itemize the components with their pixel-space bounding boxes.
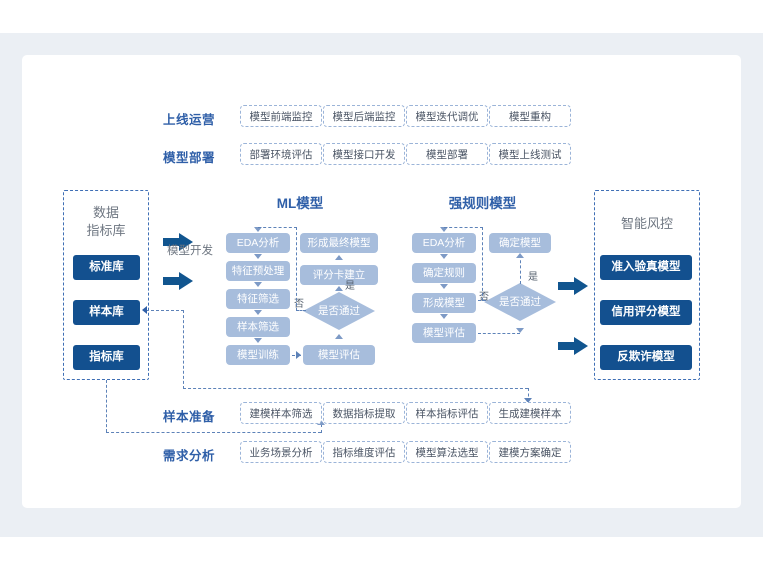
- ml-connector-no-v: [296, 227, 297, 311]
- ml-step-final-model[interactable]: 形成最终模型: [300, 233, 378, 253]
- rule-step-form-model[interactable]: 形成模型: [412, 293, 476, 313]
- rule-model-title: 强规则模型: [415, 192, 550, 212]
- flow-arrow-down-icon-ml-3: [254, 310, 262, 315]
- flow-arrow-up-icon-ml-1: [335, 255, 343, 260]
- rule-yes-label: 是: [528, 268, 538, 283]
- left-panel-title: 数据 指标库: [63, 204, 149, 239]
- flow-arrow-up-icon-rule-2: [516, 328, 524, 333]
- flow-arrow-down-icon-ml-2: [254, 282, 262, 287]
- diagram-canvas: 上线运营 模型前端监控 模型后端监控 模型迭代调优 模型重构 模型部署 部署环境…: [0, 0, 763, 576]
- rule-connector-yes-v: [520, 255, 521, 284]
- flow-arrow-down-icon-rule-1: [440, 254, 448, 259]
- chip-sample-prep-1[interactable]: 数据指标提取: [323, 402, 405, 424]
- chip-online-ops-2[interactable]: 模型迭代调优: [406, 105, 488, 127]
- chip-model-deploy-3[interactable]: 模型上线测试: [489, 143, 571, 165]
- chip-online-ops-0[interactable]: 模型前端监控: [240, 105, 322, 127]
- flow-arrow-down-icon-ml-4: [254, 338, 262, 343]
- ml-connector-no-top: [258, 227, 297, 228]
- flow-arrow-down-icon-rule-2: [440, 284, 448, 289]
- rule-connector-no-v: [482, 227, 483, 301]
- chip-sample-prep-3[interactable]: 生成建模样本: [489, 402, 571, 424]
- bottom-connector-long-h: [183, 388, 528, 389]
- chip-sample-prep-2[interactable]: 样本指标评估: [406, 402, 488, 424]
- req-connector-h: [106, 432, 321, 433]
- req-connector-up-v: [321, 424, 322, 433]
- block-arrow-right-icon-out-top: [558, 277, 588, 295]
- flow-arrow-up-icon-ml-3: [335, 334, 343, 339]
- rule-connector-no-top: [444, 227, 483, 228]
- right-panel-box-antifraud[interactable]: 反欺诈模型: [600, 345, 692, 370]
- row-label-online-ops: 上线运营: [163, 109, 215, 128]
- left-panel-title-line2: 指标库: [86, 223, 125, 238]
- left-panel-box-index[interactable]: 指标库: [73, 345, 140, 370]
- bottom-connector-left-v: [183, 310, 184, 389]
- chip-online-ops-1[interactable]: 模型后端监控: [323, 105, 405, 127]
- ml-step-feature-preprocess[interactable]: 特征预处理: [226, 261, 290, 281]
- rule-step-define-rule[interactable]: 确定规则: [412, 263, 476, 283]
- ml-step-eda[interactable]: EDA分析: [226, 233, 290, 253]
- bottom-connector-to-sample-lib: [146, 310, 184, 311]
- row-label-model-deploy: 模型部署: [163, 147, 215, 166]
- rule-step-eda[interactable]: EDA分析: [412, 233, 476, 253]
- chip-requirement-3[interactable]: 建模方案确定: [489, 441, 571, 463]
- flow-arrow-right-icon-ml-eval: [296, 351, 301, 359]
- left-panel-box-standard[interactable]: 标准库: [73, 255, 140, 280]
- right-panel-title: 智能风控: [594, 215, 700, 233]
- ml-connector-no-h: [296, 310, 306, 311]
- right-panel-box-admission[interactable]: 准入验真模型: [600, 255, 692, 280]
- ml-model-title: ML模型: [240, 192, 360, 212]
- middle-label-model-dev: 模型开发: [160, 244, 220, 260]
- ml-yes-label: 是: [345, 277, 355, 292]
- left-panel-title-line1: 数据: [93, 205, 119, 220]
- ml-step-model-train[interactable]: 模型训练: [226, 345, 290, 365]
- ml-step-feature-select[interactable]: 特征筛选: [226, 289, 290, 309]
- ml-step-scorecard[interactable]: 评分卡建立: [300, 265, 378, 285]
- chip-model-deploy-1[interactable]: 模型接口开发: [323, 143, 405, 165]
- chip-online-ops-3[interactable]: 模型重构: [489, 105, 571, 127]
- rule-step-model-eval[interactable]: 模型评估: [412, 323, 476, 343]
- flow-arrow-up-icon-ml-2: [335, 286, 343, 291]
- chip-requirement-0[interactable]: 业务场景分析: [240, 441, 322, 463]
- rule-step-confirm-model[interactable]: 确定模型: [489, 233, 551, 253]
- chip-requirement-2[interactable]: 模型算法选型: [406, 441, 488, 463]
- ml-step-model-eval[interactable]: 模型评估: [303, 345, 375, 365]
- block-arrow-right-icon-bottom: [163, 272, 193, 290]
- row-label-sample-prep: 样本准备: [163, 406, 215, 425]
- ml-step-sample-select[interactable]: 样本筛选: [226, 317, 290, 337]
- flow-arrow-down-icon-rule-3: [440, 314, 448, 319]
- req-connector-v: [106, 380, 107, 432]
- rule-connector-eval-h: [478, 333, 520, 334]
- right-panel-box-credit-score[interactable]: 信用评分模型: [600, 300, 692, 325]
- chip-model-deploy-0[interactable]: 部署环境评估: [240, 143, 322, 165]
- chip-requirement-1[interactable]: 指标维度评估: [323, 441, 405, 463]
- flow-arrow-left-icon-sample-lib: [142, 306, 147, 314]
- left-panel-box-sample[interactable]: 样本库: [73, 300, 140, 325]
- flow-arrow-up-icon-rule-1: [516, 253, 524, 258]
- block-arrow-right-icon-out-bottom: [558, 337, 588, 355]
- chip-model-deploy-2[interactable]: 模型部署: [406, 143, 488, 165]
- row-label-requirement: 需求分析: [163, 445, 215, 464]
- flow-arrow-down-icon-ml-1: [254, 254, 262, 259]
- chip-sample-prep-0[interactable]: 建模样本筛选: [240, 402, 322, 424]
